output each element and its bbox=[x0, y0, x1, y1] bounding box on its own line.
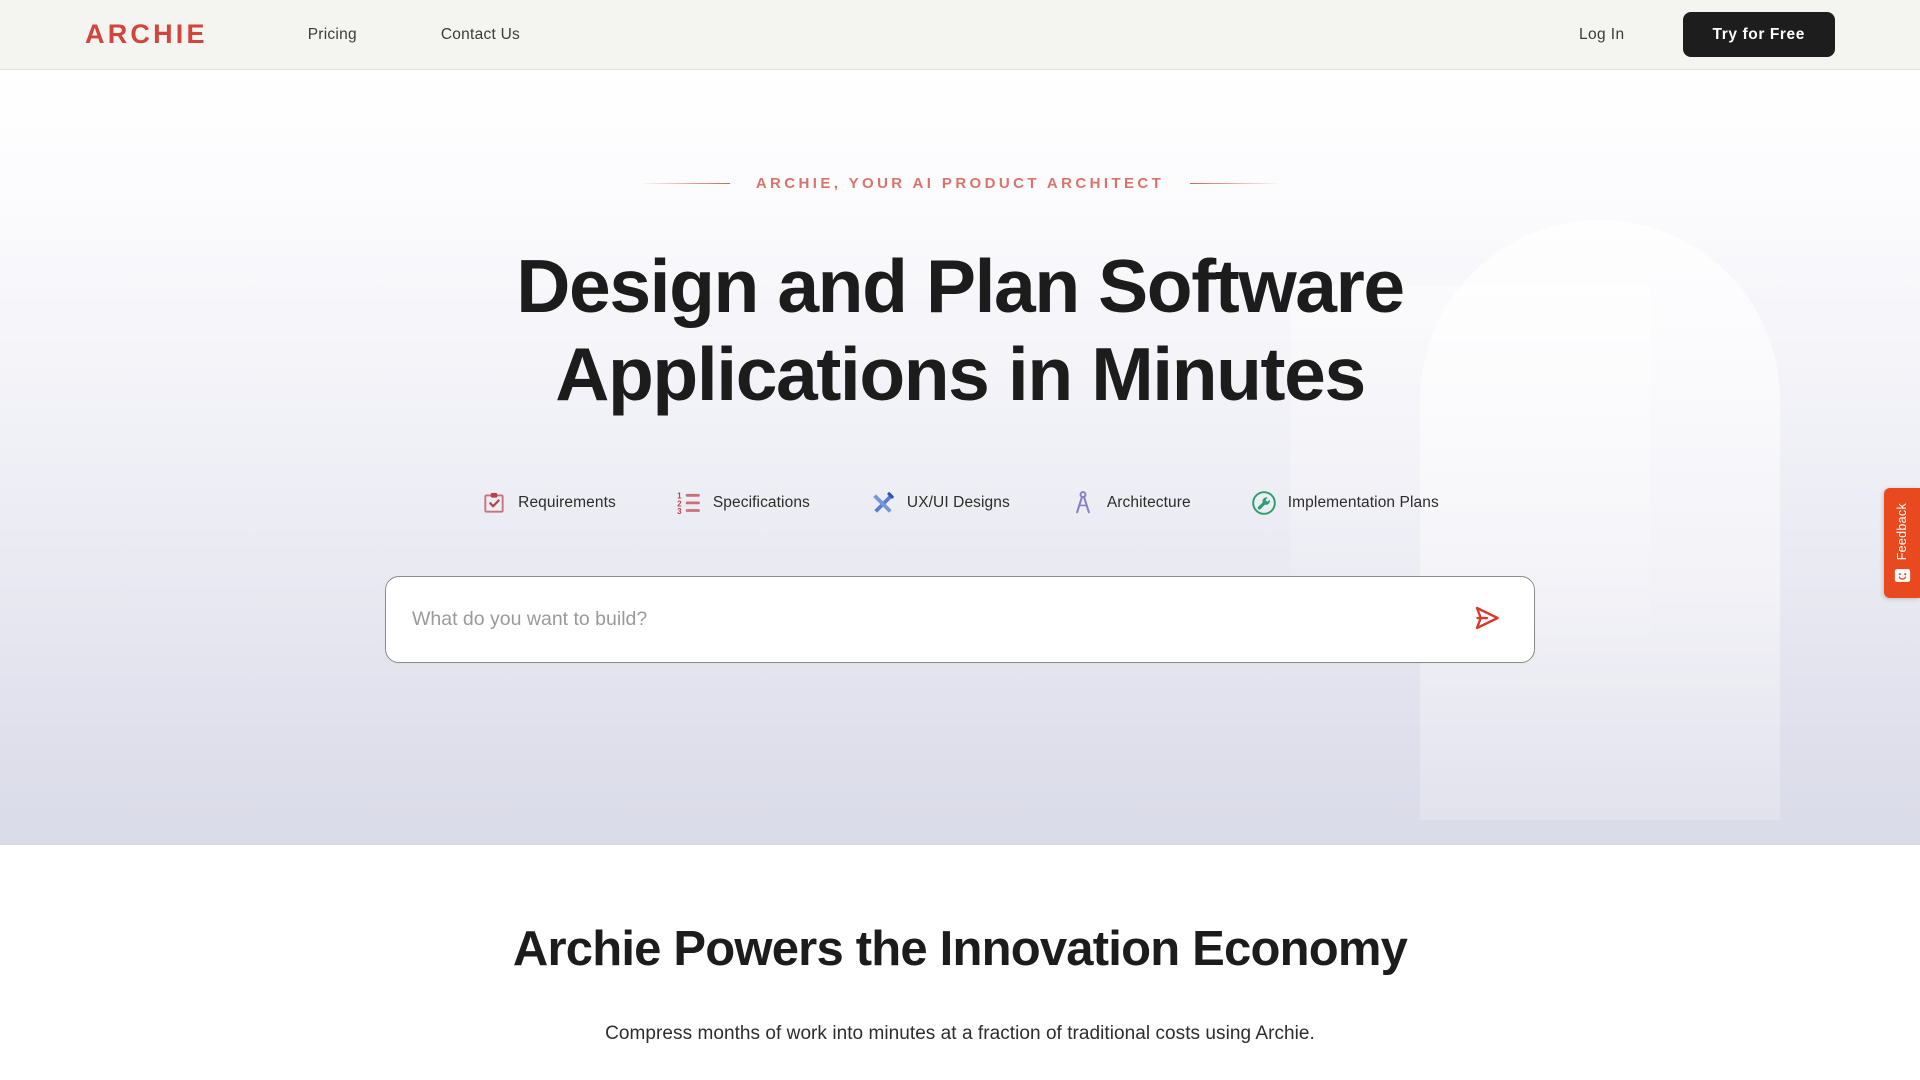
feature-label: UX/UI Designs bbox=[907, 494, 1010, 512]
section-title: Archie Powers the Innovation Economy bbox=[0, 921, 1920, 977]
nav-contact-us[interactable]: Contact Us bbox=[441, 26, 520, 44]
feature-implementation-plans[interactable]: Implementation Plans bbox=[1251, 490, 1439, 516]
innovation-economy-section: Archie Powers the Innovation Economy Com… bbox=[0, 845, 1920, 1080]
wrench-circle-icon bbox=[1251, 490, 1277, 516]
main-navigation: Pricing Contact Us bbox=[308, 26, 520, 44]
eyebrow-rule-right bbox=[1190, 183, 1280, 185]
prompt-area bbox=[0, 576, 1920, 663]
feature-label: Architecture bbox=[1107, 494, 1191, 512]
hero-headline: Design and Plan Software Applications in… bbox=[0, 242, 1920, 418]
feature-requirements[interactable]: Requirements bbox=[481, 490, 616, 516]
smiley-face-icon bbox=[1894, 568, 1911, 583]
headline-line-1: Design and Plan Software bbox=[516, 244, 1403, 328]
logo-archie[interactable]: ARCHIE bbox=[85, 21, 208, 48]
feature-list: Requirements 1 2 3 Specifications bbox=[0, 490, 1920, 516]
nav-pricing[interactable]: Pricing bbox=[308, 26, 357, 44]
site-header: ARCHIE Pricing Contact Us Log In Try for… bbox=[0, 0, 1920, 70]
feature-label: Implementation Plans bbox=[1288, 494, 1439, 512]
svg-text:3: 3 bbox=[677, 507, 682, 516]
prompt-input[interactable] bbox=[408, 608, 1466, 631]
eyebrow-rule-left bbox=[640, 183, 730, 185]
hero-section: ARCHIE, YOUR AI PRODUCT ARCHITECT Design… bbox=[0, 70, 1920, 845]
prompt-box[interactable] bbox=[385, 576, 1535, 663]
try-for-free-button[interactable]: Try for Free bbox=[1683, 12, 1835, 57]
feature-architecture[interactable]: Architecture bbox=[1070, 490, 1191, 516]
section-subtitle: Compress months of work into minutes at … bbox=[0, 1023, 1920, 1045]
clipboard-check-icon bbox=[481, 490, 507, 516]
login-link[interactable]: Log In bbox=[1579, 26, 1625, 44]
compass-icon bbox=[1070, 490, 1096, 516]
header-actions: Log In Try for Free bbox=[1579, 12, 1835, 57]
feedback-tab[interactable]: Feedback bbox=[1884, 488, 1920, 598]
send-icon bbox=[1472, 603, 1502, 636]
feature-ux-ui-designs[interactable]: UX/UI Designs bbox=[870, 490, 1010, 516]
pen-ruler-icon bbox=[870, 490, 896, 516]
headline-line-2: Applications in Minutes bbox=[555, 332, 1365, 416]
feature-label: Specifications bbox=[713, 494, 810, 512]
send-button[interactable] bbox=[1466, 599, 1508, 641]
numbered-list-icon: 1 2 3 bbox=[676, 490, 702, 516]
eyebrow-text: ARCHIE, YOUR AI PRODUCT ARCHITECT bbox=[756, 175, 1164, 192]
hero-eyebrow: ARCHIE, YOUR AI PRODUCT ARCHITECT bbox=[0, 175, 1920, 192]
feature-label: Requirements bbox=[518, 494, 616, 512]
feature-specifications[interactable]: 1 2 3 Specifications bbox=[676, 490, 810, 516]
feedback-label: Feedback bbox=[1895, 503, 1909, 560]
